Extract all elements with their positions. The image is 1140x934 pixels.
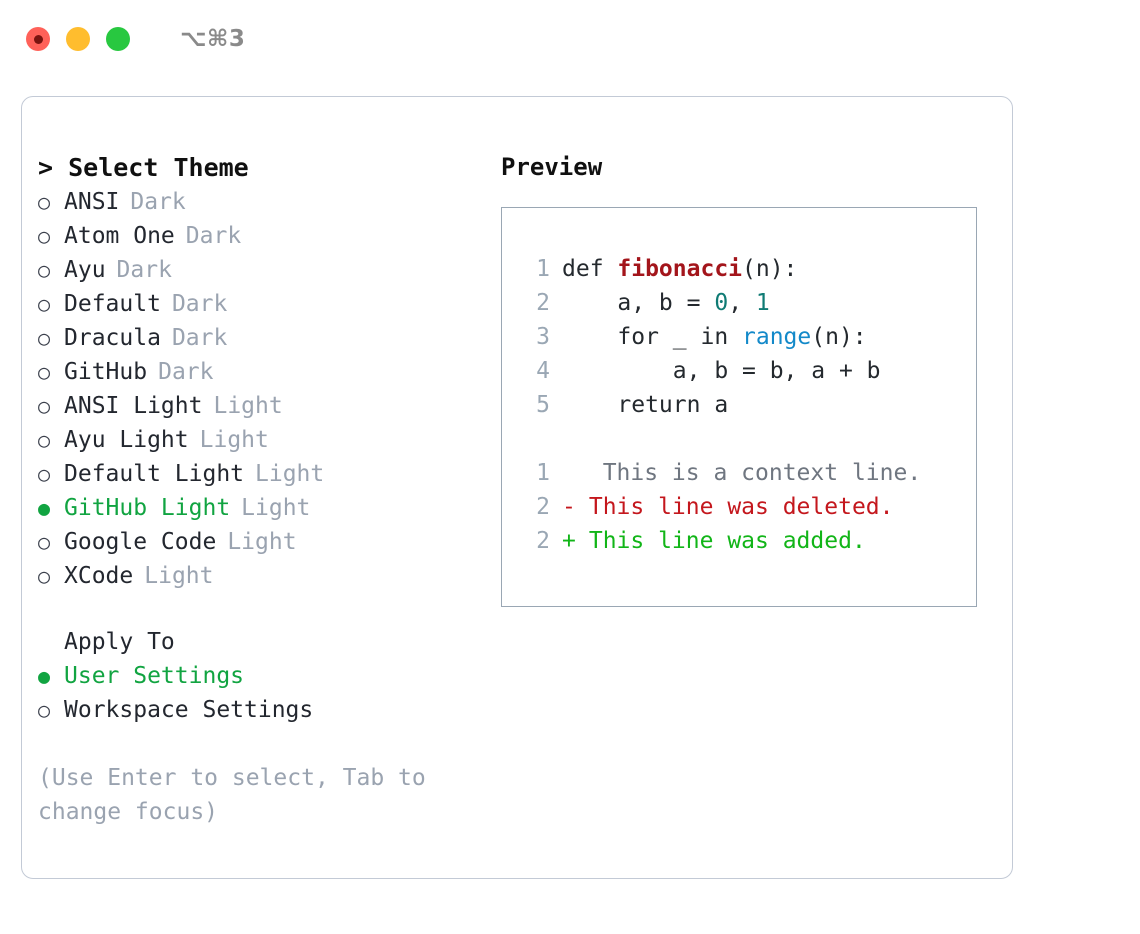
radio-selected-icon: ● <box>38 659 64 693</box>
code-token-call: range <box>742 324 811 350</box>
code-token-num: 0 <box>714 290 728 316</box>
radio-unselected-icon: ○ <box>38 355 64 389</box>
theme-option-dracula[interactable]: ○DraculaDark <box>38 321 488 355</box>
radio-unselected-icon: ○ <box>38 389 64 423</box>
close-window-button[interactable] <box>26 27 50 51</box>
radio-unselected-icon: ○ <box>38 525 64 559</box>
theme-option-ansi-light[interactable]: ○ANSI LightLight <box>38 389 488 423</box>
code-line: 1def fibonacci(n): <box>520 252 976 286</box>
diff-line-add: 2+ This line was added. <box>520 524 976 558</box>
theme-option-label: Ayu <box>64 253 106 287</box>
radio-unselected-icon: ○ <box>38 423 64 457</box>
theme-variant-badge: Dark <box>130 185 185 219</box>
code-token-plain: for _ in <box>562 324 742 350</box>
theme-option-label: ANSI Light <box>64 389 202 423</box>
code-sample: 1def fibonacci(n):2 a, b = 0, 13 for _ i… <box>520 252 976 422</box>
line-number: 2 <box>520 286 550 320</box>
radio-unselected-icon: ○ <box>38 287 64 321</box>
minimize-window-button[interactable] <box>66 27 90 51</box>
diff-line-text: This line was deleted. <box>575 490 894 524</box>
apply-to-option-label: Workspace Settings <box>64 693 313 727</box>
theme-option-ayu[interactable]: ○AyuDark <box>38 253 488 287</box>
code-token-plain: a, b = b, a + b <box>562 358 881 384</box>
theme-option-label: Atom One <box>64 219 175 253</box>
code-line-text: a, b = 0, 1 <box>562 286 770 320</box>
code-line: 5 return a <box>520 388 976 422</box>
line-number: 4 <box>520 354 550 388</box>
preview-box: 1def fibonacci(n):2 a, b = 0, 13 for _ i… <box>501 207 977 607</box>
theme-variant-badge: Dark <box>117 253 172 287</box>
theme-variant-badge: Light <box>255 457 324 491</box>
apply-to-option-user-settings[interactable]: ●User Settings <box>38 659 488 693</box>
code-token-plain: return a <box>562 392 728 418</box>
diff-marker-icon: - <box>562 490 575 524</box>
theme-option-label: Ayu Light <box>64 423 189 457</box>
line-number: 2 <box>520 524 550 558</box>
keyboard-hint-text: (Use Enter to select, Tab to change focu… <box>38 761 458 829</box>
content-panel: > Select Theme ○ANSIDark○Atom OneDark○Ay… <box>21 96 1013 879</box>
code-line: 3 for _ in range(n): <box>520 320 976 354</box>
radio-unselected-icon: ○ <box>38 185 64 219</box>
line-number: 1 <box>520 456 550 490</box>
theme-option-google-code[interactable]: ○Google CodeLight <box>38 525 488 559</box>
theme-variant-badge: Dark <box>186 219 241 253</box>
apply-to-option-label: User Settings <box>64 659 244 693</box>
radio-selected-icon: ● <box>38 491 64 525</box>
code-token-plain: def <box>562 256 617 282</box>
theme-variant-badge: Light <box>200 423 269 457</box>
apply-to-option-list[interactable]: ●User Settings○Workspace Settings <box>38 659 488 727</box>
code-token-plain: , <box>728 290 756 316</box>
code-line-text: return a <box>562 388 728 422</box>
theme-option-label: Default Light <box>64 457 244 491</box>
theme-variant-badge: Dark <box>172 321 227 355</box>
maximize-window-button[interactable] <box>106 27 130 51</box>
diff-line-context: 1 This is a context line. <box>520 456 976 490</box>
preview-column: Preview 1def fibonacci(n):2 a, b = 0, 13… <box>501 151 996 607</box>
code-token-plain: (n): <box>742 256 797 282</box>
diff-sample: 1 This is a context line.2- This line wa… <box>520 456 976 558</box>
page-title: > Select Theme <box>38 151 488 185</box>
theme-variant-badge: Light <box>213 389 282 423</box>
close-icon <box>34 35 43 44</box>
preview-title: Preview <box>501 151 996 183</box>
radio-unselected-icon: ○ <box>38 219 64 253</box>
radio-unselected-icon: ○ <box>38 457 64 491</box>
theme-option-list[interactable]: ○ANSIDark○Atom OneDark○AyuDark○DefaultDa… <box>38 185 488 593</box>
theme-picker-column: > Select Theme ○ANSIDark○Atom OneDark○Ay… <box>38 151 488 829</box>
diff-line-del: 2- This line was deleted. <box>520 490 976 524</box>
theme-option-default[interactable]: ○DefaultDark <box>38 287 488 321</box>
app-window: ⌥⌘3 > Select Theme ○ANSIDark○Atom OneDar… <box>0 0 1140 934</box>
radio-unselected-icon: ○ <box>38 693 64 727</box>
theme-variant-badge: Dark <box>172 287 227 321</box>
theme-variant-badge: Light <box>227 525 296 559</box>
diff-marker-icon: + <box>562 524 575 558</box>
theme-option-default-light[interactable]: ○Default LightLight <box>38 457 488 491</box>
theme-option-label: Dracula <box>64 321 161 355</box>
theme-option-atom-one[interactable]: ○Atom OneDark <box>38 219 488 253</box>
diff-marker-icon <box>562 456 575 490</box>
code-line-text: a, b = b, a + b <box>562 354 881 388</box>
theme-option-label: ANSI <box>64 185 119 219</box>
title-bar: ⌥⌘3 <box>0 0 1140 78</box>
line-number: 3 <box>520 320 550 354</box>
theme-option-xcode[interactable]: ○XCodeLight <box>38 559 488 593</box>
diff-line-text: This is a context line. <box>575 456 921 490</box>
code-token-plain: a, b = <box>562 290 714 316</box>
theme-option-github-light[interactable]: ●GitHub LightLight <box>38 491 488 525</box>
apply-to-heading-row: ○ Apply To <box>38 625 488 659</box>
theme-option-label: GitHub Light <box>64 491 230 525</box>
code-token-plain: (n): <box>811 324 866 350</box>
line-number: 2 <box>520 490 550 524</box>
theme-option-github[interactable]: ○GitHubDark <box>38 355 488 389</box>
theme-option-ayu-light[interactable]: ○Ayu LightLight <box>38 423 488 457</box>
keyboard-shortcut-label: ⌥⌘3 <box>180 26 245 52</box>
line-number: 5 <box>520 388 550 422</box>
radio-unselected-icon: ○ <box>38 321 64 355</box>
line-number: 1 <box>520 252 550 286</box>
theme-variant-badge: Light <box>241 491 310 525</box>
radio-unselected-icon: ○ <box>38 559 64 593</box>
traffic-lights <box>26 27 130 51</box>
apply-to-heading: Apply To <box>64 625 175 659</box>
diff-line-text: This line was added. <box>575 524 866 558</box>
theme-option-label: Google Code <box>64 525 216 559</box>
code-line: 2 a, b = 0, 1 <box>520 286 976 320</box>
theme-variant-badge: Dark <box>158 355 213 389</box>
radio-unselected-icon: ○ <box>38 253 64 287</box>
theme-option-label: XCode <box>64 559 133 593</box>
theme-option-ansi[interactable]: ○ANSIDark <box>38 185 488 219</box>
code-token-fn: fibonacci <box>617 256 742 282</box>
code-line-text: for _ in range(n): <box>562 320 867 354</box>
apply-to-option-workspace-settings[interactable]: ○Workspace Settings <box>38 693 488 727</box>
theme-option-label: GitHub <box>64 355 147 389</box>
code-token-num: 1 <box>756 290 770 316</box>
code-line-text: def fibonacci(n): <box>562 252 797 286</box>
theme-option-label: Default <box>64 287 161 321</box>
code-line: 4 a, b = b, a + b <box>520 354 976 388</box>
theme-variant-badge: Light <box>144 559 213 593</box>
